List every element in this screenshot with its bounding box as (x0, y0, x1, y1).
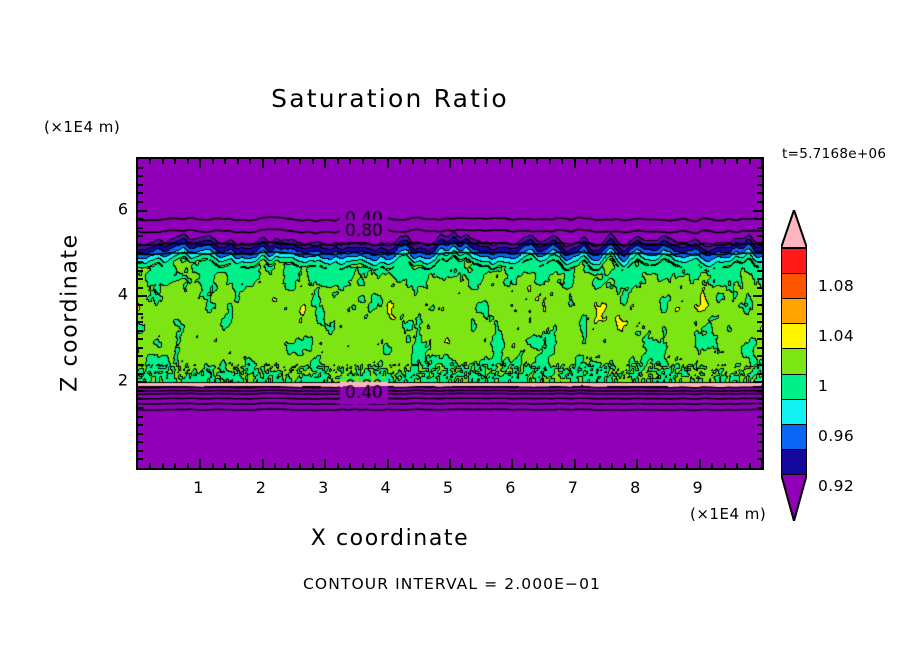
axis-tick (757, 407, 762, 409)
axis-tick (412, 159, 414, 164)
axis-tick (561, 159, 563, 164)
axis-tick (138, 450, 143, 452)
axis-tick (138, 244, 143, 246)
axis-tick (699, 159, 701, 168)
axis-tick (524, 463, 526, 468)
y-tick-label: 6 (110, 199, 128, 218)
axis-tick (224, 159, 226, 164)
axis-tick (138, 416, 143, 418)
axis-tick (574, 159, 576, 168)
axis-tick (138, 433, 143, 435)
axis-tick (549, 159, 551, 164)
axis-tick (574, 459, 576, 468)
axis-tick (474, 463, 476, 468)
axis-tick (287, 463, 289, 468)
axis-tick (753, 295, 762, 297)
axis-tick (237, 463, 239, 468)
axis-tick (753, 381, 762, 383)
axis-tick (138, 261, 143, 263)
axis-tick (149, 159, 151, 164)
axis-tick (757, 313, 762, 315)
axis-tick (374, 463, 376, 468)
axis-tick (549, 463, 551, 468)
axis-tick (736, 463, 738, 468)
y-tick-label: 2 (110, 371, 128, 390)
axis-tick (486, 463, 488, 468)
axis-tick (138, 167, 143, 169)
axis-tick (624, 463, 626, 468)
axis-tick (753, 210, 762, 212)
axis-tick (624, 159, 626, 164)
axis-tick (187, 159, 189, 164)
x-tick-label: 6 (505, 478, 515, 497)
axis-tick (499, 463, 501, 468)
axis-tick (724, 159, 726, 164)
axis-tick (349, 159, 351, 164)
axis-tick (138, 313, 143, 315)
axis-tick (757, 201, 762, 203)
axis-tick (138, 278, 143, 280)
axis-tick (138, 175, 143, 177)
axis-tick (636, 459, 638, 468)
axis-tick (138, 347, 143, 349)
axis-tick (212, 159, 214, 164)
page-title: Saturation Ratio (0, 84, 780, 113)
y-axis-units-label: (×1E4 m) (44, 118, 120, 136)
axis-tick (262, 159, 264, 168)
axis-tick (349, 463, 351, 468)
axis-tick (138, 210, 147, 212)
axis-tick (757, 373, 762, 375)
axis-tick (424, 463, 426, 468)
y-axis-title: Z coordinate (58, 213, 83, 413)
axis-tick (611, 463, 613, 468)
axis-tick (757, 244, 762, 246)
axis-tick (449, 159, 451, 168)
axis-tick (757, 433, 762, 435)
colorbar-band[interactable] (781, 399, 807, 426)
axis-tick (757, 252, 762, 254)
axis-tick (437, 159, 439, 164)
axis-tick (138, 270, 143, 272)
x-tick-label: 9 (693, 478, 703, 497)
colorbar[interactable]: 1.081.0410.960.92 (781, 210, 891, 522)
axis-tick (757, 458, 762, 460)
colorbar-band[interactable] (781, 449, 807, 476)
colorbar-band[interactable] (781, 273, 807, 300)
axis-tick (262, 459, 264, 468)
axis-tick (387, 159, 389, 168)
axis-tick (661, 159, 663, 164)
axis-tick (461, 159, 463, 164)
axis-tick (536, 159, 538, 164)
axis-tick (337, 159, 339, 164)
x-tick-label: 1 (193, 478, 203, 497)
colorbar-band[interactable] (781, 323, 807, 350)
axis-tick (757, 364, 762, 366)
axis-tick (138, 373, 143, 375)
axis-tick (138, 441, 143, 443)
axis-tick (199, 159, 201, 168)
colorbar-over-cap (781, 210, 807, 248)
axis-tick (757, 304, 762, 306)
axis-tick (187, 463, 189, 468)
axis-tick (138, 398, 143, 400)
axis-tick (711, 159, 713, 164)
axis-tick (511, 159, 513, 168)
axis-tick (138, 287, 143, 289)
axis-tick (636, 159, 638, 168)
axis-tick (399, 463, 401, 468)
x-tick-label: 5 (443, 478, 453, 497)
axis-tick (138, 355, 143, 357)
axis-tick (757, 167, 762, 169)
axis-tick (274, 159, 276, 164)
axis-tick (138, 235, 143, 237)
axis-tick (138, 381, 147, 383)
axis-tick (586, 463, 588, 468)
axis-tick (674, 463, 676, 468)
axis-tick (757, 338, 762, 340)
colorbar-tick-label: 1 (818, 377, 828, 395)
axis-tick (138, 390, 143, 392)
axis-tick (757, 398, 762, 400)
axis-tick (757, 321, 762, 323)
axis-tick (757, 192, 762, 194)
x-axis-units-label: (×1E4 m) (690, 505, 766, 523)
axis-tick (586, 159, 588, 164)
y-tick-label: 4 (110, 285, 128, 304)
x-tick-label: 4 (381, 478, 391, 497)
axis-tick (724, 463, 726, 468)
axis-tick (138, 304, 143, 306)
axis-tick (274, 463, 276, 468)
axis-tick (611, 159, 613, 164)
axis-tick (757, 278, 762, 280)
axis-tick (299, 159, 301, 164)
axis-tick (757, 261, 762, 263)
axis-tick (736, 159, 738, 164)
axis-tick (536, 463, 538, 468)
time-annotation: t=5.7168e+06 (782, 146, 886, 162)
axis-tick (499, 159, 501, 164)
colorbar-tick-label: 0.92 (818, 477, 854, 495)
axis-tick (412, 463, 414, 468)
axis-tick (599, 463, 601, 468)
axis-tick (212, 463, 214, 468)
axis-tick (757, 450, 762, 452)
axis-tick (757, 270, 762, 272)
axis-tick (661, 463, 663, 468)
x-tick-label: 2 (256, 478, 266, 497)
axis-tick (649, 159, 651, 164)
axis-tick (757, 175, 762, 177)
axis-tick (299, 463, 301, 468)
axis-tick (138, 192, 143, 194)
axis-tick (474, 159, 476, 164)
axis-tick (138, 295, 147, 297)
axis-tick (757, 416, 762, 418)
colorbar-under-cap (781, 474, 807, 521)
x-tick-label: 7 (568, 478, 578, 497)
axis-tick (686, 463, 688, 468)
axis-tick (374, 159, 376, 164)
axis-tick (162, 463, 164, 468)
axis-tick (757, 227, 762, 229)
axis-tick (138, 321, 143, 323)
colorbar-tick-label: 0.96 (818, 427, 854, 445)
axis-tick (287, 159, 289, 164)
axis-tick (138, 458, 143, 460)
colorbar-band[interactable] (781, 374, 807, 401)
axis-tick (461, 463, 463, 468)
axis-tick (324, 459, 326, 468)
colorbar-band[interactable] (781, 298, 807, 325)
axis-tick (312, 159, 314, 164)
x-axis-title: X coordinate (0, 526, 780, 551)
colorbar-band[interactable] (781, 424, 807, 451)
contour-plot-area[interactable] (136, 157, 764, 470)
axis-tick (757, 390, 762, 392)
axis-tick (399, 159, 401, 164)
axis-tick (749, 463, 751, 468)
axis-tick (149, 463, 151, 468)
axis-tick (437, 463, 439, 468)
colorbar-band[interactable] (781, 248, 807, 275)
axis-tick (757, 424, 762, 426)
axis-tick (138, 364, 143, 366)
axis-tick (138, 252, 143, 254)
axis-tick (138, 338, 143, 340)
axis-tick (524, 159, 526, 164)
axis-tick (249, 159, 251, 164)
axis-tick (224, 463, 226, 468)
x-tick-label: 8 (630, 478, 640, 497)
axis-tick (237, 159, 239, 164)
axis-tick (138, 201, 143, 203)
axis-tick (649, 463, 651, 468)
axis-tick (749, 159, 751, 164)
axis-tick (674, 159, 676, 164)
axis-tick (757, 441, 762, 443)
axis-tick (757, 184, 762, 186)
axis-tick (138, 184, 143, 186)
axis-tick (362, 463, 364, 468)
axis-tick (337, 463, 339, 468)
axis-tick (174, 463, 176, 468)
axis-tick (199, 459, 201, 468)
contour-interval-caption: CONTOUR INTERVAL = 2.000E−01 (0, 575, 904, 593)
x-tick-label: 3 (318, 478, 328, 497)
axis-tick (424, 159, 426, 164)
axis-tick (757, 235, 762, 237)
axis-tick (486, 159, 488, 164)
axis-tick (312, 463, 314, 468)
axis-tick (162, 159, 164, 164)
axis-tick (138, 218, 143, 220)
axis-tick (757, 347, 762, 349)
axis-tick (757, 218, 762, 220)
axis-tick (449, 459, 451, 468)
axis-tick (561, 463, 563, 468)
contour-field-canvas (138, 159, 762, 468)
axis-tick (711, 463, 713, 468)
axis-tick (699, 459, 701, 468)
axis-tick (757, 287, 762, 289)
axis-tick (138, 407, 143, 409)
axis-tick (362, 159, 364, 164)
axis-tick (138, 330, 143, 332)
axis-tick (511, 459, 513, 468)
axis-tick (599, 159, 601, 164)
axis-tick (249, 463, 251, 468)
axis-tick (174, 159, 176, 164)
axis-tick (387, 459, 389, 468)
axis-tick (324, 159, 326, 168)
axis-tick (686, 159, 688, 164)
colorbar-band[interactable] (781, 348, 807, 375)
axis-tick (138, 227, 143, 229)
colorbar-tick-label: 1.04 (818, 327, 854, 345)
axis-tick (757, 330, 762, 332)
axis-tick (138, 424, 143, 426)
axis-tick (757, 355, 762, 357)
colorbar-tick-label: 1.08 (818, 277, 854, 295)
